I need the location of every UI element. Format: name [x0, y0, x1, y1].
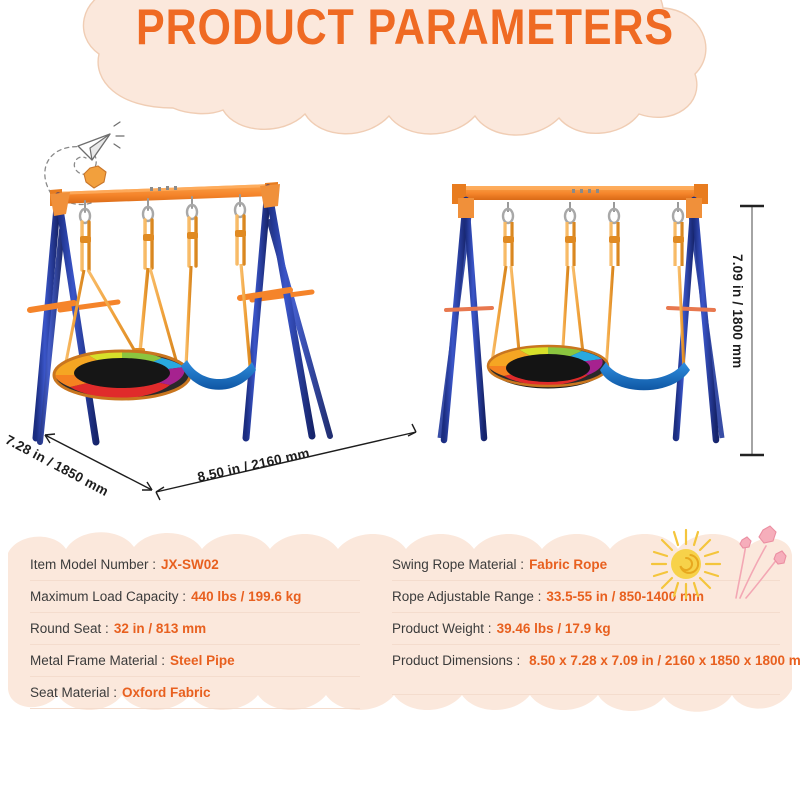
page-title: PRODUCT PARAMETERS [104, 0, 706, 56]
dimension-label-height: 7.09 in / 1800 mm [730, 254, 745, 368]
spec-row: Seat Material : Oxford Fabric [30, 677, 360, 709]
spec-label: Metal Frame Material : [30, 653, 165, 668]
spec-value: 8.50 x 7.28 x 7.09 in / 2160 x 1850 x 18… [529, 653, 800, 668]
spec-row: Product Weight : 39.46 lbs / 17.9 kg [392, 613, 780, 645]
spec-label: Swing Rope Material : [392, 557, 524, 572]
title-cloud: PRODUCT PARAMETERS [55, 0, 755, 148]
spec-label: Product Weight : [392, 621, 492, 636]
saucer-seat [54, 350, 190, 399]
infographic-canvas: PRODUCT PARAMETERS [0, 0, 800, 800]
spec-row: Round Seat : 32 in / 813 mm [30, 613, 360, 645]
spec-value: 39.46 lbs / 17.9 kg [497, 621, 611, 636]
product-illustration [0, 170, 800, 520]
spec-row: Metal Frame Material : Steel Pipe [30, 645, 360, 677]
flowers-doodle [716, 524, 790, 604]
spec-value: 32 in / 813 mm [114, 621, 206, 636]
spec-label: Rope Adjustable Range : [392, 589, 541, 604]
spec-row: Maximum Load Capacity : 440 lbs / 199.6 … [30, 581, 360, 613]
spec-value: Steel Pipe [170, 653, 235, 668]
belt-seat-front [600, 362, 690, 390]
angled-view [30, 182, 330, 442]
spec-label: Round Seat : [30, 621, 109, 636]
saucer-seat-front [488, 345, 608, 389]
spec-label: Product Dimensions : [392, 653, 520, 668]
spec-label: Seat Material : [30, 685, 117, 700]
belt-seat [181, 360, 256, 390]
spec-value: Oxford Fabric [122, 685, 211, 700]
spec-value: 440 lbs / 199.6 kg [191, 589, 301, 604]
spec-label: Maximum Load Capacity : [30, 589, 186, 604]
spec-column-left: Item Model Number : JX-SW02 Maximum Load… [8, 527, 376, 727]
sun-doodle [650, 528, 722, 600]
spec-row: Item Model Number : JX-SW02 [30, 549, 360, 581]
spec-value: Fabric Rope [529, 557, 607, 572]
spec-value: JX-SW02 [161, 557, 219, 572]
spec-row: Product Dimensions : 8.50 x 7.28 x 7.09 … [392, 645, 780, 695]
spec-label: Item Model Number : [30, 557, 156, 572]
front-view [440, 184, 722, 440]
